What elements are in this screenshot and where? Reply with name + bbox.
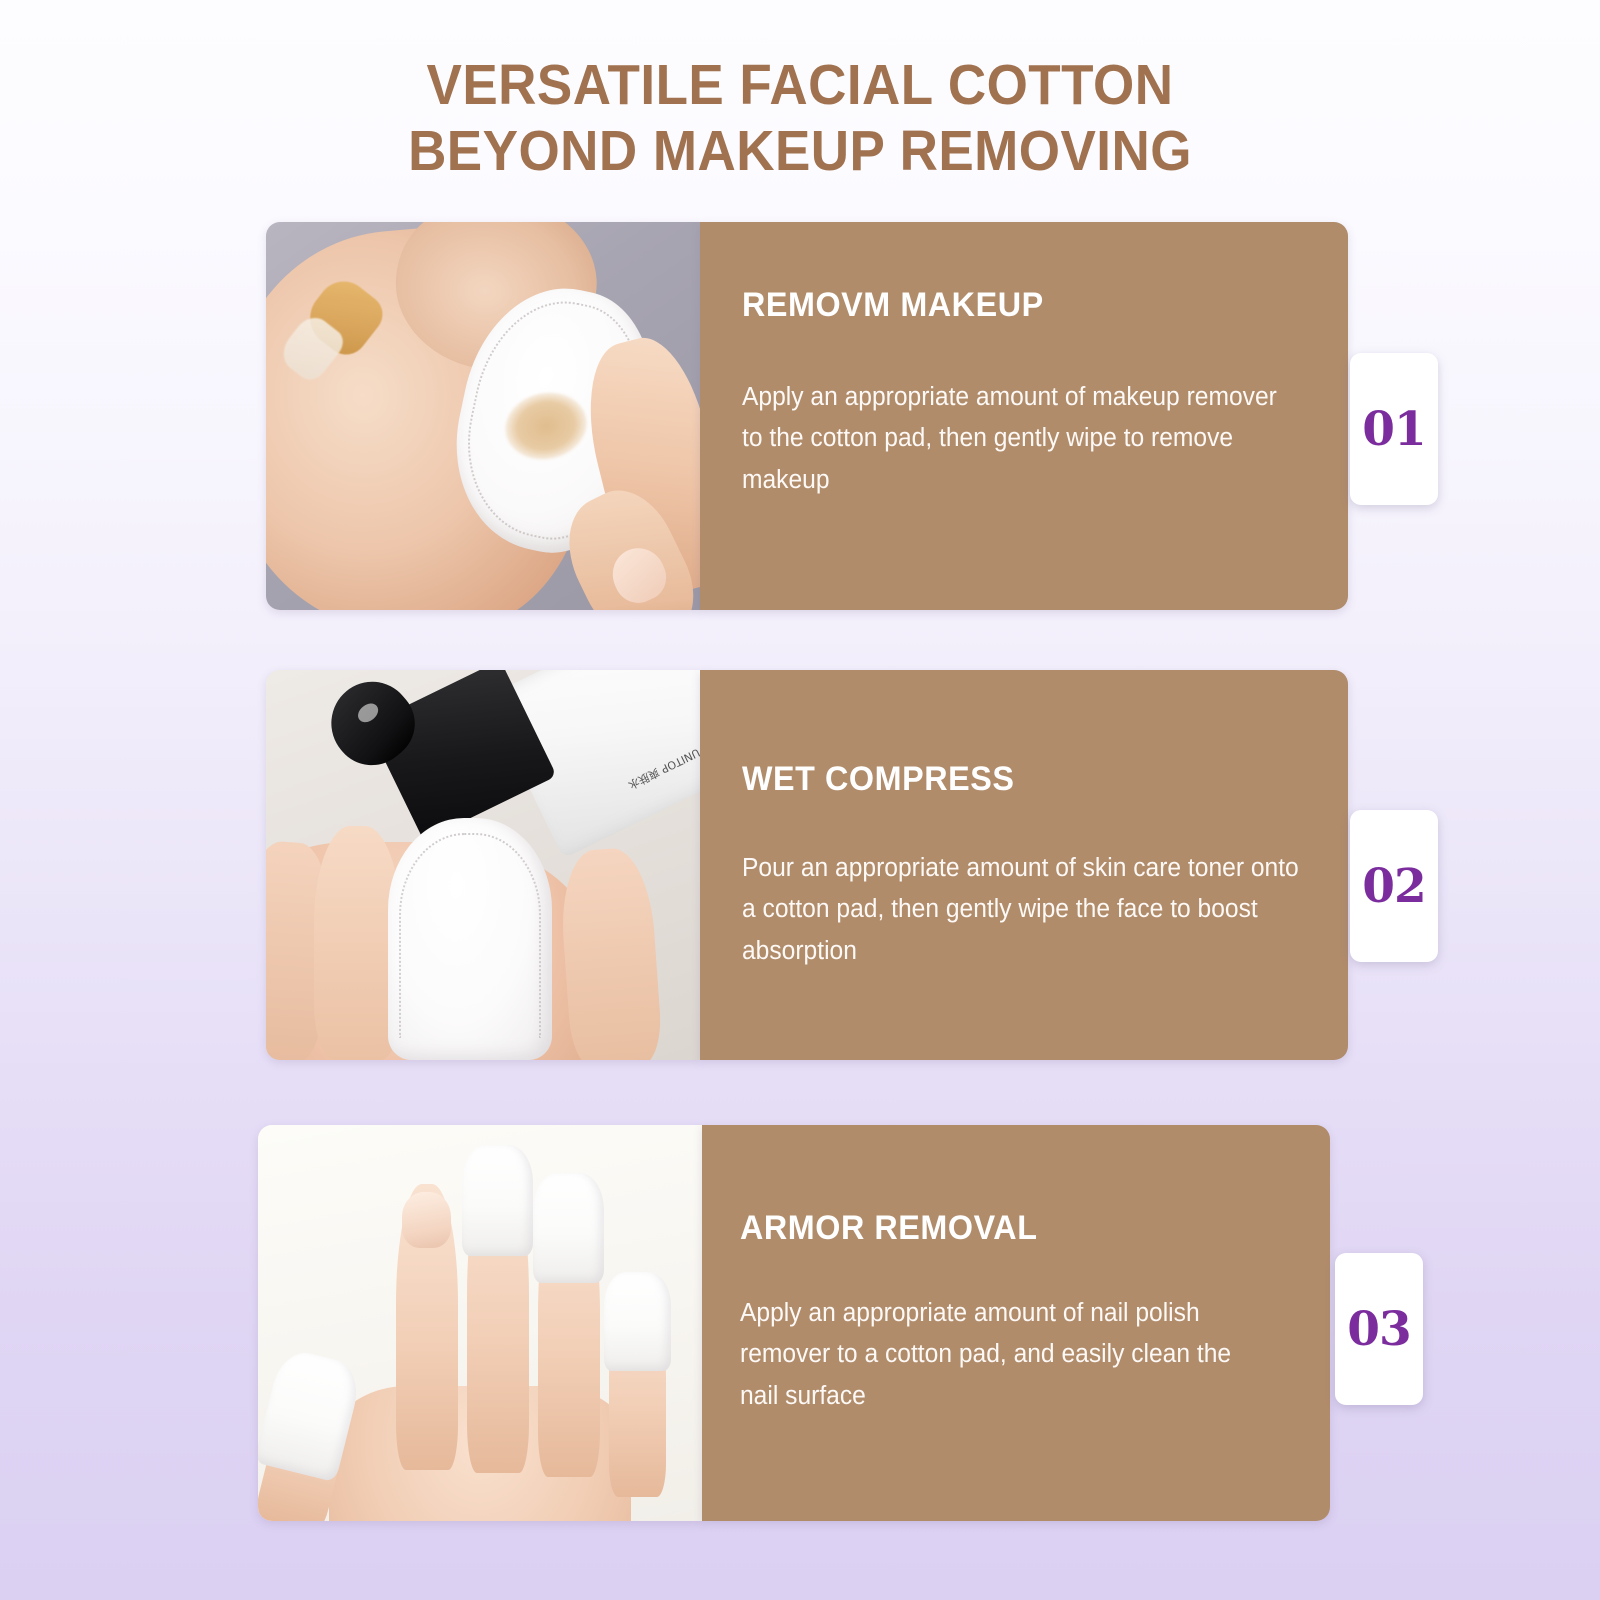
step-1-number: 01 — [1362, 402, 1425, 457]
step-1-text-panel: REMOVM MAKEUP Apply an appropriate amoun… — [700, 222, 1348, 610]
step-card-3: ARMOR REMOVAL Apply an appropriate amoun… — [258, 1125, 1423, 1523]
step-1-heading: REMOVM MAKEUP — [742, 286, 1044, 325]
step-3-body: Apply an appropriate amount of nail poli… — [740, 1293, 1242, 1417]
step-3-photo — [258, 1125, 702, 1521]
step-2-body: Pour an appropriate amount of skin care … — [742, 848, 1300, 972]
step-1-number-badge: 01 — [1350, 353, 1438, 505]
step-2-heading: WET COMPRESS — [742, 760, 1014, 799]
step-card-1: REMOVM MAKEUP Apply an appropriate amoun… — [266, 222, 1446, 612]
page-title-line-2: BEYOND MAKEUP REMOVING — [56, 118, 1544, 184]
step-2-number-badge: 02 — [1350, 810, 1438, 962]
step-2-photo: UNITOP 爽肤水 — [266, 670, 700, 1060]
step-3-number-badge: 03 — [1335, 1253, 1423, 1405]
step-2-text-panel: WET COMPRESS Pour an appropriate amount … — [700, 670, 1348, 1060]
cotton-pad — [388, 818, 553, 1060]
step-2-number: 02 — [1362, 859, 1425, 914]
index-fingernail — [402, 1192, 451, 1247]
page-title-line-1: VERSATILE FACIAL COTTON — [56, 52, 1544, 118]
step-3-text-panel: ARMOR REMOVAL Apply an appropriate amoun… — [702, 1125, 1330, 1521]
step-1-body: Apply an appropriate amount of makeup re… — [742, 377, 1288, 501]
page-title: VERSATILE FACIAL COTTON BEYOND MAKEUP RE… — [56, 52, 1544, 184]
cotton-cap-pinky — [604, 1272, 671, 1371]
cotton-cap-middle — [462, 1145, 533, 1256]
step-3-heading: ARMOR REMOVAL — [740, 1209, 1037, 1248]
step-1-photo — [266, 222, 700, 610]
step-card-2: UNITOP 爽肤水 WET COMPRESS Pour an appropri… — [266, 670, 1446, 1062]
step-3-number: 03 — [1347, 1302, 1410, 1357]
cotton-cap-ring — [533, 1173, 604, 1284]
